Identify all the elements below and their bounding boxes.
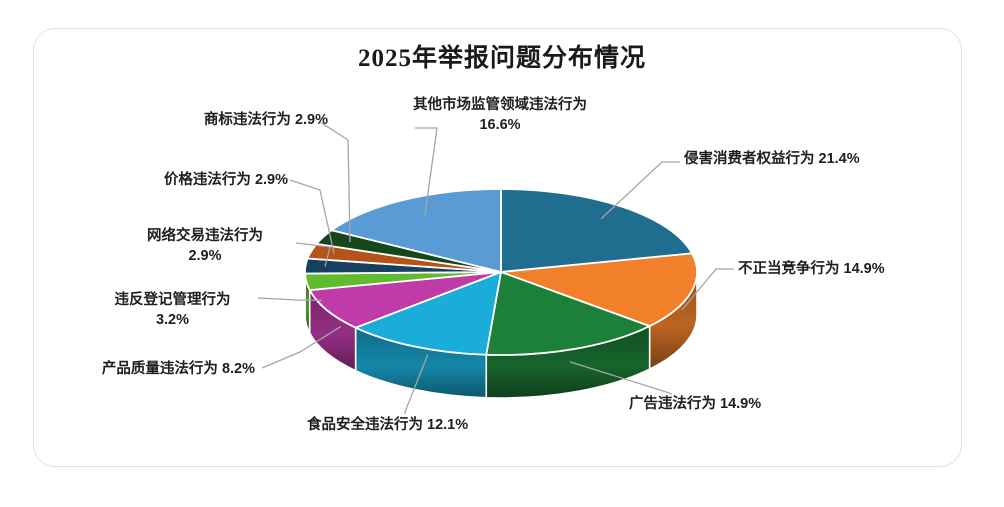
slice-label-other-market-text: 其他市场监管领域违法行为 <box>413 97 587 113</box>
slice-label-online-trade: 网络交易违法行为 2.9% <box>105 227 305 266</box>
slice-label-registration-value: 3.2% <box>156 312 189 328</box>
slice-label-advertising: 广告违法行为 14.9% <box>629 395 761 415</box>
slice-label-registration-text: 违反登记管理行为 <box>115 292 231 308</box>
slice-label-trademark-text: 商标违法行为 2.9% <box>204 112 328 128</box>
slice-label-other-market-value: 16.6% <box>479 117 520 133</box>
slice-label-consumer-rights: 侵害消费者权益行为 21.4% <box>684 150 860 170</box>
slice-label-price: 价格违法行为 2.9% <box>60 171 288 191</box>
slice-label-price-text: 价格违法行为 2.9% <box>164 172 288 188</box>
slice-label-product-quality: 产品质量违法行为 8.2% <box>0 360 255 380</box>
slice-label-trademark: 商标违法行为 2.9% <box>90 111 328 131</box>
slice-label-unfair-competition: 不正当竞争行为 14.9% <box>738 260 885 280</box>
slice-label-other-market: 其他市场监管领域违法行为 16.6% <box>315 96 685 135</box>
slice-label-product-quality-text: 产品质量违法行为 8.2% <box>102 361 255 377</box>
slice-label-consumer-rights-text: 侵害消费者权益行为 21.4% <box>684 151 860 167</box>
slice-label-online-trade-text: 网络交易违法行为 <box>147 228 263 244</box>
slice-label-registration: 违反登记管理行为 3.2% <box>75 291 270 330</box>
slice-label-advertising-text: 广告违法行为 14.9% <box>629 396 761 412</box>
slice-label-food-safety: 食品安全违法行为 12.1% <box>307 416 468 436</box>
chart-page: 2025年举报问题分布情况 其他市场监管领域违法行为 16.6% 侵害消费者权益… <box>0 0 1004 507</box>
slice-label-food-safety-text: 食品安全违法行为 12.1% <box>307 417 468 433</box>
slice-label-online-trade-value: 2.9% <box>188 248 221 264</box>
pie-top-faces <box>305 189 697 355</box>
slice-label-unfair-competition-text: 不正当竞争行为 14.9% <box>738 261 885 277</box>
